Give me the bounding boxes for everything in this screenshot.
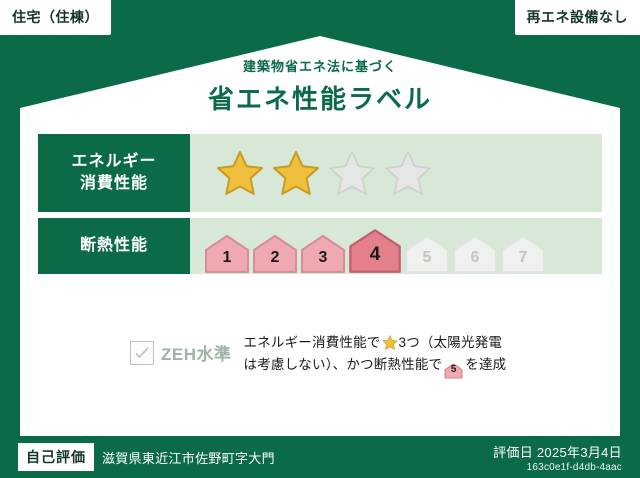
energy-performance-label: 住宅（住棟） 再エネ設備なし 建築物省エネ法に基づく 省エネ性能ラベル エネルギ… — [0, 0, 640, 478]
insulation-level-number: 5 — [423, 249, 432, 274]
label-footer: 自己評価 滋賀県東近江市佐野町字大門 評価日 2025年3月4日 163c0e1… — [0, 436, 640, 478]
assessment-type-badge: 自己評価 — [18, 443, 94, 471]
star-empty-icon — [328, 150, 376, 196]
insulation-level-scale: 1234567 — [190, 218, 602, 274]
footer-right-group: 評価日 2025年3月4日 163c0e1f-d4db-4aac — [493, 442, 622, 473]
inline-house-value: 5 — [451, 362, 457, 379]
description-part3: は考慮しない）、かつ断熱性能で — [244, 357, 443, 372]
renewable-equipment-badge: 再エネ設備なし — [515, 0, 640, 35]
description-part2: 3つ（太陽光発電 — [399, 335, 503, 350]
insulation-label-text: 断熱性能 — [80, 235, 148, 257]
performance-rows: エネルギー 消費性能 断熱性能 1234567 — [38, 134, 602, 274]
criteria-description: エネルギー消費性能で3つ（太陽光発電は考慮しない）、かつ断熱性能で5を達成 — [244, 332, 601, 379]
insulation-level: 2 — [252, 234, 298, 274]
insulation-level-number: 4 — [370, 244, 381, 274]
star-icon — [382, 335, 398, 350]
insulation-level: 5 — [404, 234, 450, 274]
description-part4: を達成 — [465, 357, 506, 372]
insulation-level-number: 6 — [471, 249, 480, 274]
label-title: 建築物省エネ法に基づく 省エネ性能ラベル — [0, 56, 640, 116]
document-id: 163c0e1f-d4db-4aac — [493, 462, 622, 473]
inline-house-badge: 5 — [444, 363, 463, 379]
insulation-performance-row: 断熱性能 1234567 — [38, 218, 602, 274]
insulation-level: 7 — [500, 234, 546, 274]
star-empty-icon — [384, 150, 432, 196]
insulation-level-number: 1 — [223, 249, 232, 274]
property-address: 滋賀県東近江市佐野町字大門 — [102, 448, 275, 467]
insulation-level: 3 — [300, 234, 346, 274]
footer-left-group: 自己評価 滋賀県東近江市佐野町字大門 — [18, 443, 275, 471]
insulation-level-number: 3 — [319, 249, 328, 274]
zeh-standard-indicator: ZEH水準 — [130, 332, 232, 365]
zeh-standard-label: ZEH水準 — [161, 340, 232, 365]
star-rating — [190, 134, 602, 212]
title-main: 省エネ性能ラベル — [0, 79, 640, 116]
energy-performance-row: エネルギー 消費性能 — [38, 134, 602, 212]
insulation-level: 1 — [204, 234, 250, 274]
insulation-level: 6 — [452, 234, 498, 274]
evaluation-date: 評価日 2025年3月4日 — [493, 442, 622, 461]
description-part1: エネルギー消費性能で — [244, 335, 381, 350]
insulation-performance-label: 断熱性能 — [38, 218, 190, 274]
insulation-level-active: 4 — [348, 228, 402, 274]
insulation-level-number: 2 — [271, 249, 280, 274]
energy-label-line1: エネルギー — [71, 151, 156, 173]
building-type-badge: 住宅（住棟） — [0, 0, 111, 35]
title-subtitle: 建築物省エネ法に基づく — [0, 56, 640, 75]
zeh-checkbox-icon — [130, 341, 154, 365]
criteria-info-block: ZEH水準 エネルギー消費性能で3つ（太陽光発電は考慮しない）、かつ断熱性能で5… — [130, 332, 600, 379]
energy-label-line2: 消費性能 — [80, 173, 148, 195]
star-filled-icon — [272, 150, 320, 196]
star-filled-icon — [216, 150, 264, 196]
insulation-level-number: 7 — [519, 249, 528, 274]
energy-performance-label: エネルギー 消費性能 — [38, 134, 190, 212]
